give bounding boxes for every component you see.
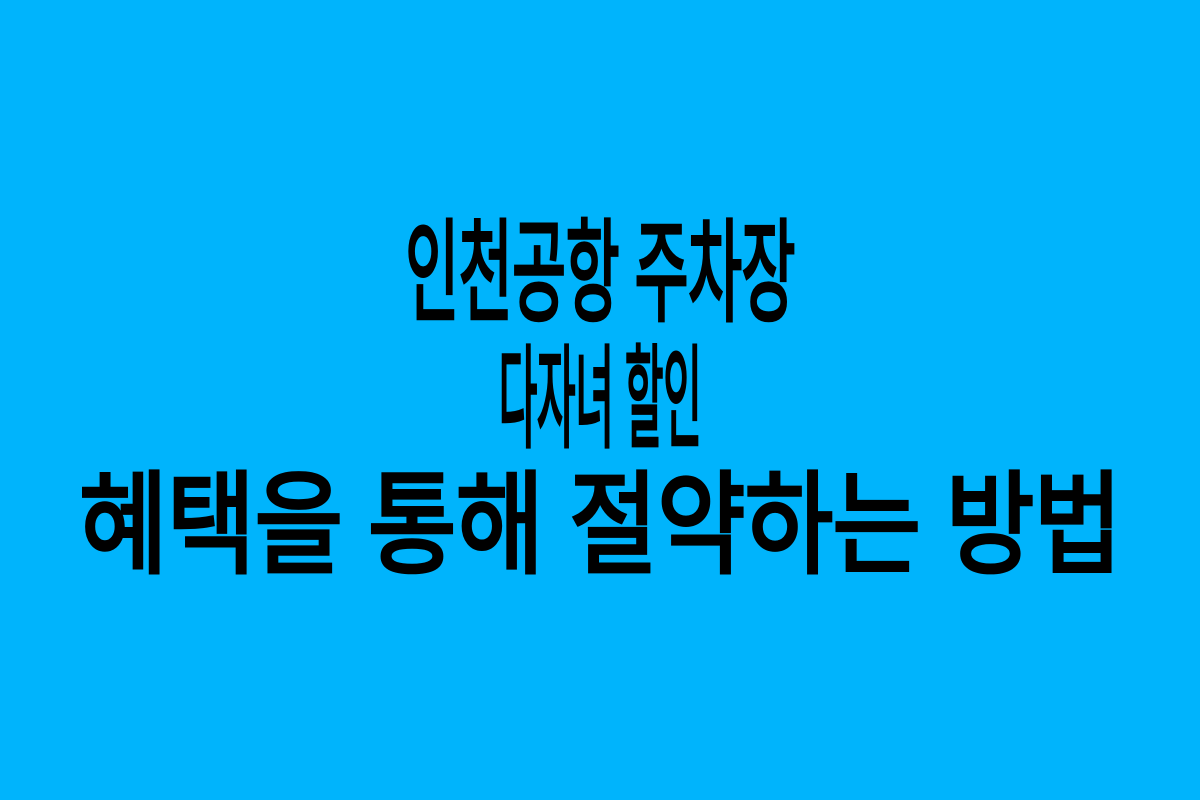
headline-block: 인천공항 주차장 다자녀 할인 혜택을 통해 절약하는 방법	[0, 215, 1200, 585]
headline-line-1: 인천공항 주차장	[261, 210, 940, 337]
headline-line-2: 다자녀 할인	[357, 336, 844, 463]
headline-line-3: 혜택을 통해 절약하는 방법	[42, 462, 1157, 589]
banner-card: 인천공항 주차장 다자녀 할인 혜택을 통해 절약하는 방법	[0, 0, 1200, 800]
